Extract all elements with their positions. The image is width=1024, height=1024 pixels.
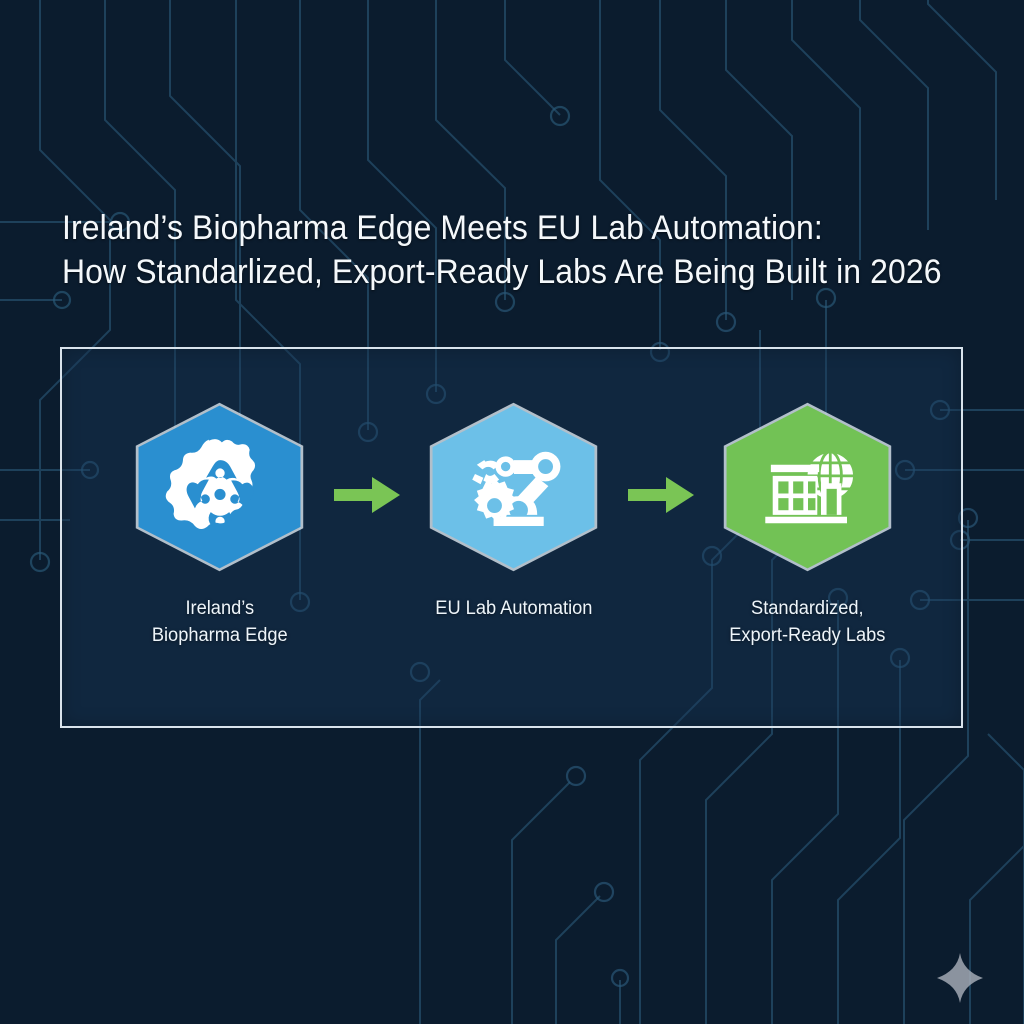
page-title: Ireland’s Biopharma Edge Meets EU Lab Au… <box>62 206 962 294</box>
infographic-canvas: Ireland’s Biopharma Edge Meets EU Lab Au… <box>0 0 1024 1024</box>
flow-step-label-3: Standardized, Export-Ready Labs <box>729 595 885 649</box>
flow-step-ireland-biopharma-edge[interactable]: Ireland’s Biopharma Edge <box>111 349 329 649</box>
lab-building-globe-icon <box>752 435 864 539</box>
ireland-biohazard-icon <box>164 435 276 539</box>
hexagon-fill-1 <box>132 404 308 570</box>
flow-arrow-2 <box>623 349 699 513</box>
sparkle-icon <box>937 953 983 1003</box>
flow-panel: Ireland’s Biopharma Edge <box>60 347 963 728</box>
flow-diagram: Ireland’s Biopharma Edge <box>62 349 965 730</box>
flow-step-eu-lab-automation[interactable]: EU Lab Automation <box>405 349 623 622</box>
hexagon-fill-2 <box>426 404 602 570</box>
hexagon-fill-3 <box>720 404 896 570</box>
title-line-2: How Standarlized, Export-Ready Labs Are … <box>62 250 908 294</box>
flow-step-label-1-line2: Biopharma Edge <box>152 622 288 649</box>
title-line-1: Ireland’s Biopharma Edge Meets EU Lab Au… <box>62 206 908 250</box>
flow-step-label-1-line1: Ireland’s <box>152 595 288 622</box>
flow-step-label-3-line2: Export-Ready Labs <box>729 622 885 649</box>
flow-step-label-3-line1: Standardized, <box>729 595 885 622</box>
flow-step-label-2-line1: EU Lab Automation <box>435 595 592 622</box>
hexagon-badge-2 <box>423 401 605 573</box>
arrow-right-icon <box>334 477 400 513</box>
flow-step-label-1: Ireland’s Biopharma Edge <box>152 595 288 649</box>
flow-arrow-1 <box>329 349 405 513</box>
hexagon-badge-3 <box>717 401 899 573</box>
arrow-right-icon <box>628 477 694 513</box>
robot-arm-gear-icon <box>458 435 570 539</box>
flow-step-standardized-export-ready-labs[interactable]: Standardized, Export-Ready Labs <box>699 349 917 649</box>
flow-step-label-2: EU Lab Automation <box>435 595 592 622</box>
hexagon-badge-1 <box>129 401 311 573</box>
